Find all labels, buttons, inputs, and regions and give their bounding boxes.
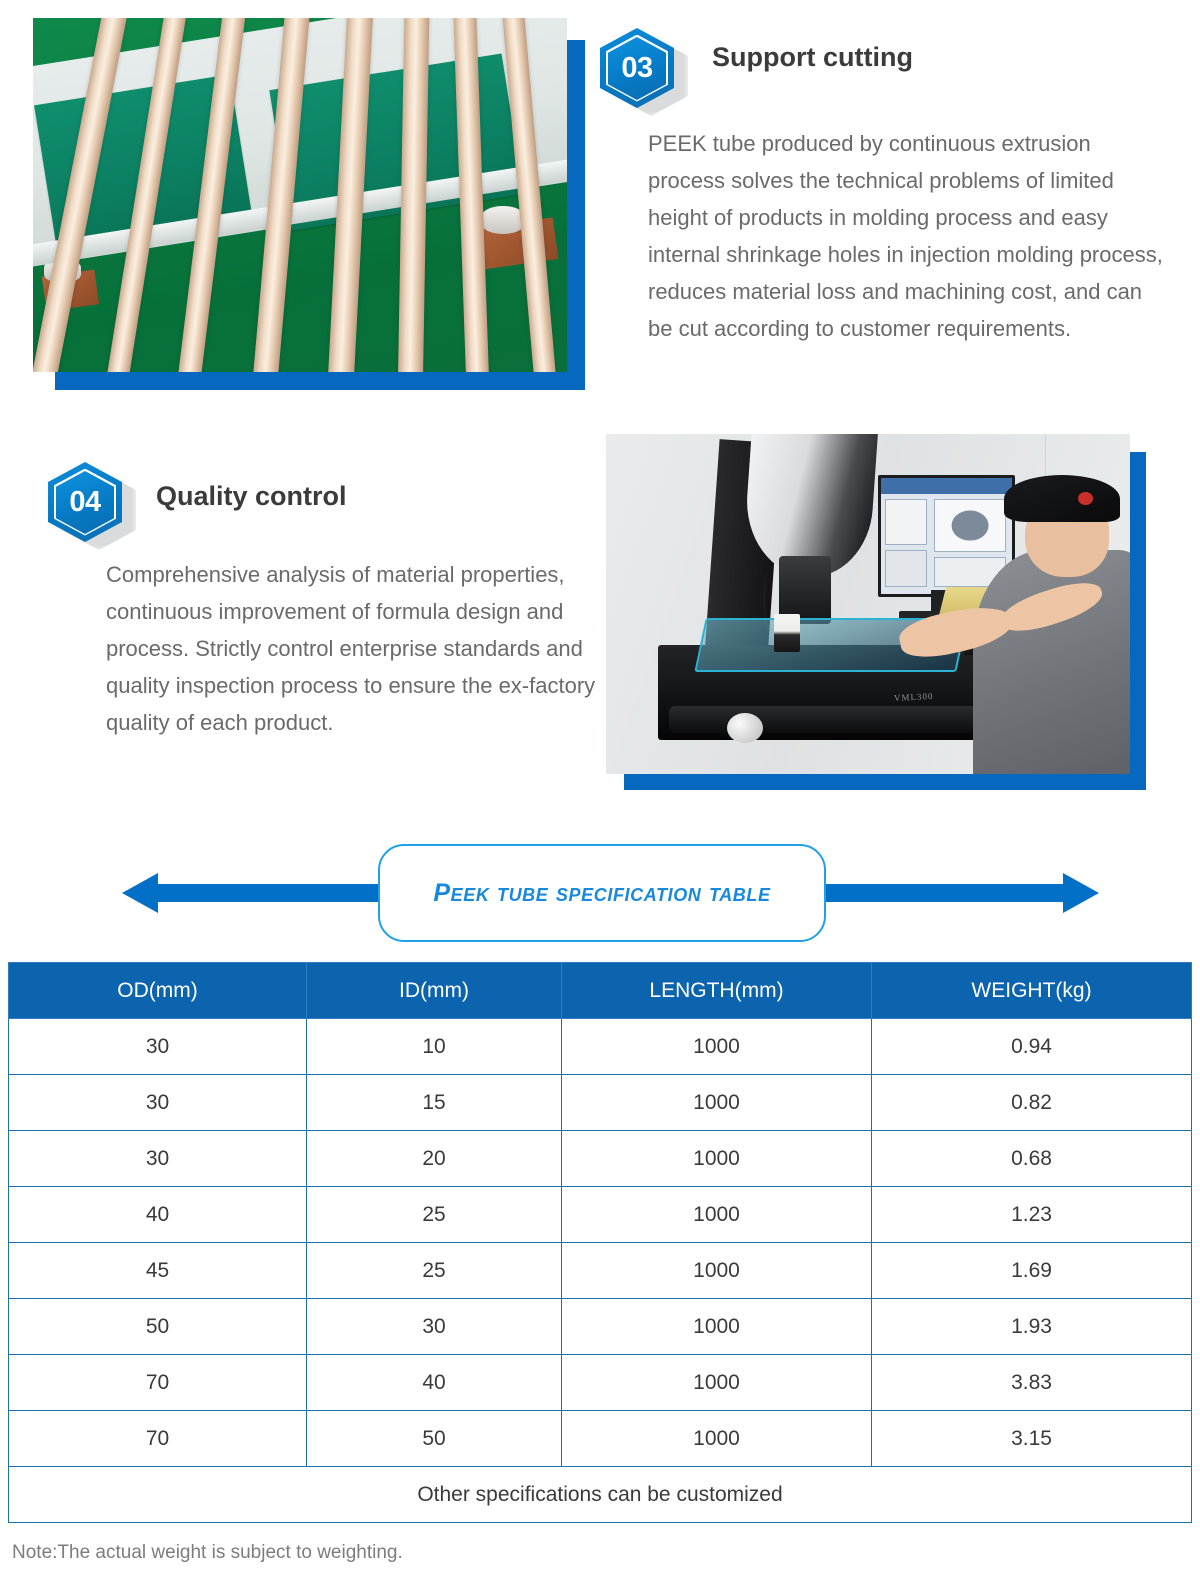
software-titlebar [881,478,1011,494]
cell-length: 1000 [562,1299,872,1355]
photo-frame-accent-right [567,40,585,390]
cell-od: 40 [9,1187,307,1243]
cell-od: 50 [9,1299,307,1355]
table-row: 45 25 1000 1.69 [9,1243,1192,1299]
spec-table-banner: Peek tube specification table [0,840,1200,946]
roller-right [482,206,525,234]
banner-title-box: Peek tube specification table [378,844,826,942]
cell-weight: 1.23 [872,1187,1192,1243]
peek-rods-photo [33,18,567,372]
cell-id: 25 [307,1243,562,1299]
peek-sample-part [774,614,800,651]
cell-weight: 3.83 [872,1355,1192,1411]
cell-length: 1000 [562,1243,872,1299]
table-row: 30 20 1000 0.68 [9,1131,1192,1187]
photo-frame-accent-right [1130,452,1146,790]
table-footer-note: Other specifications can be customized [9,1467,1192,1523]
quality-inspection-photo-frame: VML300 [606,434,1146,790]
cell-weight: 1.93 [872,1299,1192,1355]
cell-weight: 1.69 [872,1243,1192,1299]
technician-cap [1004,475,1119,523]
cell-length: 1000 [562,1131,872,1187]
cell-od: 45 [9,1243,307,1299]
table-row: 70 50 1000 3.15 [9,1411,1192,1467]
monitor-screen [881,478,1011,594]
section-title-support-cutting: Support cutting [712,42,913,73]
banner-title: Peek tube specification table [433,879,770,908]
technician-body [973,550,1130,774]
product-spec-page: 03 Support cutting PEEK tube produced by… [0,0,1200,1585]
measurement-view [934,499,1007,553]
section-body-quality-control: Comprehensive analysis of material prope… [106,556,601,741]
cell-weight: 0.68 [872,1131,1192,1187]
cell-id: 25 [307,1187,562,1243]
cell-length: 1000 [562,1075,872,1131]
cell-length: 1000 [562,1411,872,1467]
peek-rods-photo-frame [33,18,585,390]
cell-od: 70 [9,1355,307,1411]
cell-weight: 0.82 [872,1075,1192,1131]
table-body: 30 10 1000 0.94 30 15 1000 0.82 30 20 10… [9,1019,1192,1467]
column-header-weight: WEIGHT(kg) [872,963,1192,1019]
table-row: 50 30 1000 1.93 [9,1299,1192,1355]
table-row: 70 40 1000 3.83 [9,1355,1192,1411]
software-panel-top [885,499,927,546]
arrow-right-icon [1063,873,1099,913]
cell-length: 1000 [562,1355,872,1411]
section-badge-03: 03 [600,28,674,108]
software-panel-bottom [885,550,927,587]
cell-id: 15 [307,1075,562,1131]
photo-frame-accent-bottom [55,372,585,390]
cell-id: 10 [307,1019,562,1075]
table-row: 30 10 1000 0.94 [9,1019,1192,1075]
peek-tube-specification-table: OD(mm) ID(mm) LENGTH(mm) WEIGHT(kg) 30 1… [8,962,1192,1523]
table-footer-row: Other specifications can be customized [9,1467,1192,1523]
column-header-id: ID(mm) [307,963,562,1019]
measured-circle [952,510,989,541]
section-badge-04: 04 [48,462,122,542]
cell-id: 50 [307,1411,562,1467]
photo-frame-accent-bottom [624,774,1146,790]
cell-weight: 3.15 [872,1411,1192,1467]
section-title-quality-control: Quality control [156,481,347,512]
quality-inspection-photo: VML300 [606,434,1130,774]
badge-number: 04 [48,462,122,542]
cell-length: 1000 [562,1019,872,1075]
table-row: 40 25 1000 1.23 [9,1187,1192,1243]
table-head: OD(mm) ID(mm) LENGTH(mm) WEIGHT(kg) [9,963,1192,1019]
cell-id: 20 [307,1131,562,1187]
column-header-length: LENGTH(mm) [562,963,872,1019]
badge-number: 03 [600,28,674,108]
cell-od: 30 [9,1075,307,1131]
cell-od: 30 [9,1131,307,1187]
table-header-row: OD(mm) ID(mm) LENGTH(mm) WEIGHT(kg) [9,963,1192,1019]
table-row: 30 15 1000 0.82 [9,1075,1192,1131]
cell-od: 30 [9,1019,307,1075]
cell-length: 1000 [562,1187,872,1243]
section-body-support-cutting: PEEK tube produced by continuous extrusi… [648,125,1163,347]
cell-id: 40 [307,1355,562,1411]
cell-weight: 0.94 [872,1019,1192,1075]
cell-od: 70 [9,1411,307,1467]
table-foot: Other specifications can be customized [9,1467,1192,1523]
weight-note: Note:The actual weight is subject to wei… [12,1542,403,1564]
cell-id: 30 [307,1299,562,1355]
column-header-od: OD(mm) [9,963,307,1019]
